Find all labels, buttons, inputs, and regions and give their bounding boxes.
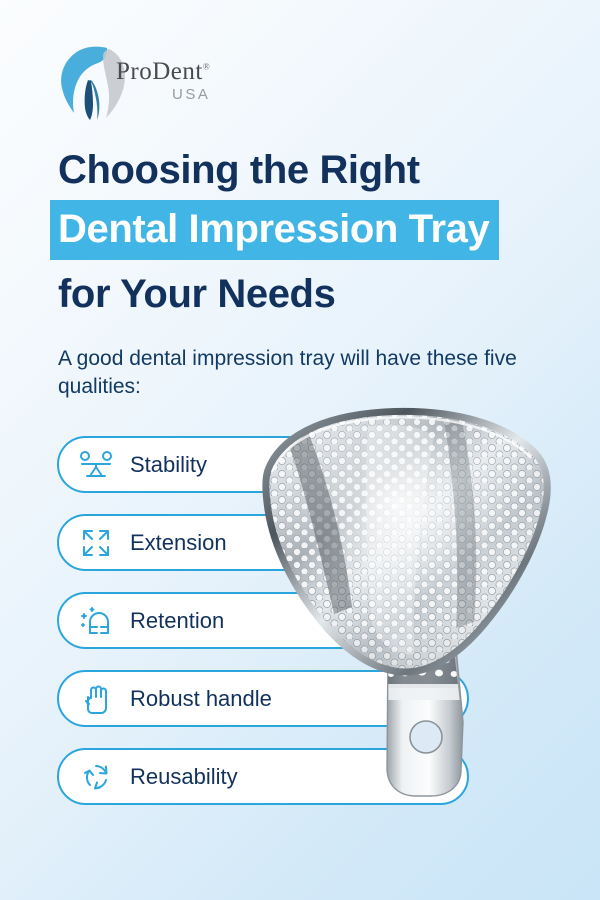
quality-label: Extension bbox=[130, 530, 227, 556]
registered-mark-icon: ® bbox=[203, 62, 210, 72]
headline-line-1: Choosing the Right bbox=[58, 150, 578, 190]
recycle-arrows-icon bbox=[76, 760, 116, 794]
magnet-sparkle-icon bbox=[76, 604, 116, 638]
fist-icon bbox=[76, 682, 116, 716]
headline-block: Choosing the Right Dental Impression Tra… bbox=[58, 150, 578, 314]
tray-bowl bbox=[262, 406, 562, 686]
expand-arrows-icon bbox=[76, 526, 116, 560]
quality-label: Reusability bbox=[130, 764, 238, 790]
quality-label: Retention bbox=[130, 608, 224, 634]
logo-text-dent: Dent bbox=[152, 58, 203, 85]
headline-line-3: for Your Needs bbox=[58, 274, 578, 314]
infographic-page: ProDent® USA Choosing the Right Dental I… bbox=[0, 0, 600, 900]
handle-hole bbox=[410, 721, 442, 753]
logo-text-usa: USA bbox=[172, 86, 210, 103]
logo-text-pro: Pro bbox=[116, 58, 152, 85]
headline-line-2-highlighted: Dental Impression Tray bbox=[50, 200, 499, 260]
dental-impression-tray-image bbox=[248, 392, 568, 812]
prodent-usa-logo: ProDent® USA bbox=[52, 42, 232, 124]
logo-wordmark: ProDent® bbox=[116, 58, 210, 86]
balance-scale-icon bbox=[76, 448, 116, 482]
quality-label: Stability bbox=[130, 452, 207, 478]
